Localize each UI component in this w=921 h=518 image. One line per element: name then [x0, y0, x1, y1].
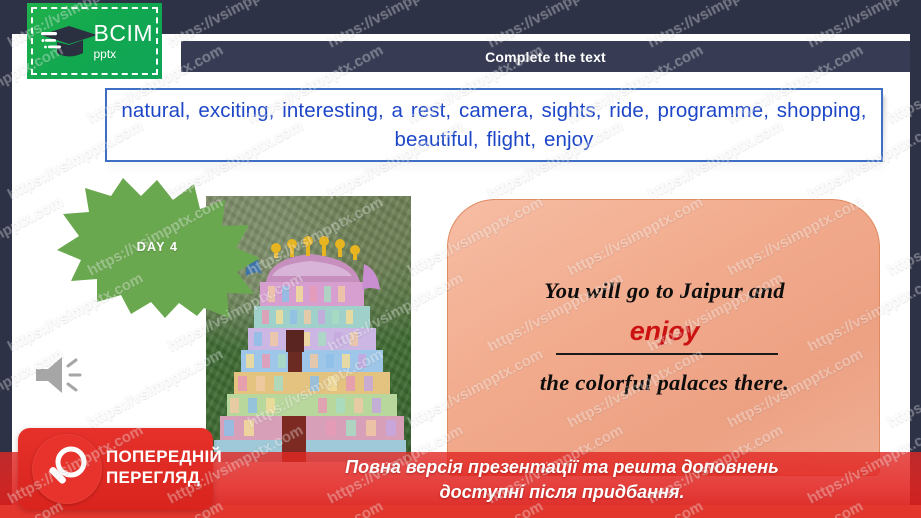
- banner-line-2: доступні після придбання.: [440, 480, 685, 505]
- graduation-cap-icon: [39, 23, 101, 61]
- answer-blank[interactable]: enjoy: [448, 310, 881, 362]
- preview-badge-line-2: ПЕРЕГЛЯД: [106, 467, 222, 488]
- day-badge-starburst: DAY 4: [55, 178, 260, 318]
- sentence-line-1: You will go to Jaipur and: [448, 278, 881, 304]
- preview-badge-label: ПОПЕРЕДНІЙ ПЕРЕГЛЯД: [106, 446, 222, 488]
- magnifier-icon: [42, 444, 92, 494]
- watermark-text: https://vsimpptx.com: [85, 346, 226, 432]
- logo-brand: BCIM pptx: [94, 21, 154, 61]
- frame-right-bar: [910, 0, 921, 518]
- sentence-block: You will go to Jaipur and enjoy the colo…: [448, 278, 881, 396]
- logo-brand-sub: pptx: [94, 47, 154, 61]
- logo-brand-name: BCIM: [94, 21, 154, 45]
- slide-title-bar: Complete the text: [181, 41, 910, 72]
- slide-canvas: Complete the text BCIM pptx natural, exc…: [0, 0, 921, 518]
- bcim-logo[interactable]: BCIM pptx: [27, 3, 162, 79]
- banner-line-1: Повна версія презентації та решта доповн…: [345, 455, 779, 480]
- day-badge-label: DAY 4: [55, 240, 260, 254]
- wordbank-words: natural, exciting, interesting, a rest, …: [121, 96, 867, 154]
- sentence-line-3: the colorful palaces there.: [448, 370, 881, 396]
- preview-banner-text: Повна версія презентації та решта доповн…: [212, 452, 912, 507]
- sentence-panel: You will go to Jaipur and enjoy the colo…: [447, 199, 880, 476]
- preview-badge[interactable]: ПОПЕРЕДНІЙ ПЕРЕГЛЯД: [18, 428, 213, 510]
- speaker-icon[interactable]: [30, 352, 92, 398]
- wordbank-box: natural, exciting, interesting, a rest, …: [105, 88, 883, 162]
- page-title: Complete the text: [485, 49, 606, 65]
- answer-blank-rule: [556, 353, 778, 355]
- preview-badge-line-1: ПОПЕРЕДНІЙ: [106, 446, 222, 467]
- frame-left-bar: [0, 0, 12, 518]
- answer-word: enjoy: [448, 316, 881, 347]
